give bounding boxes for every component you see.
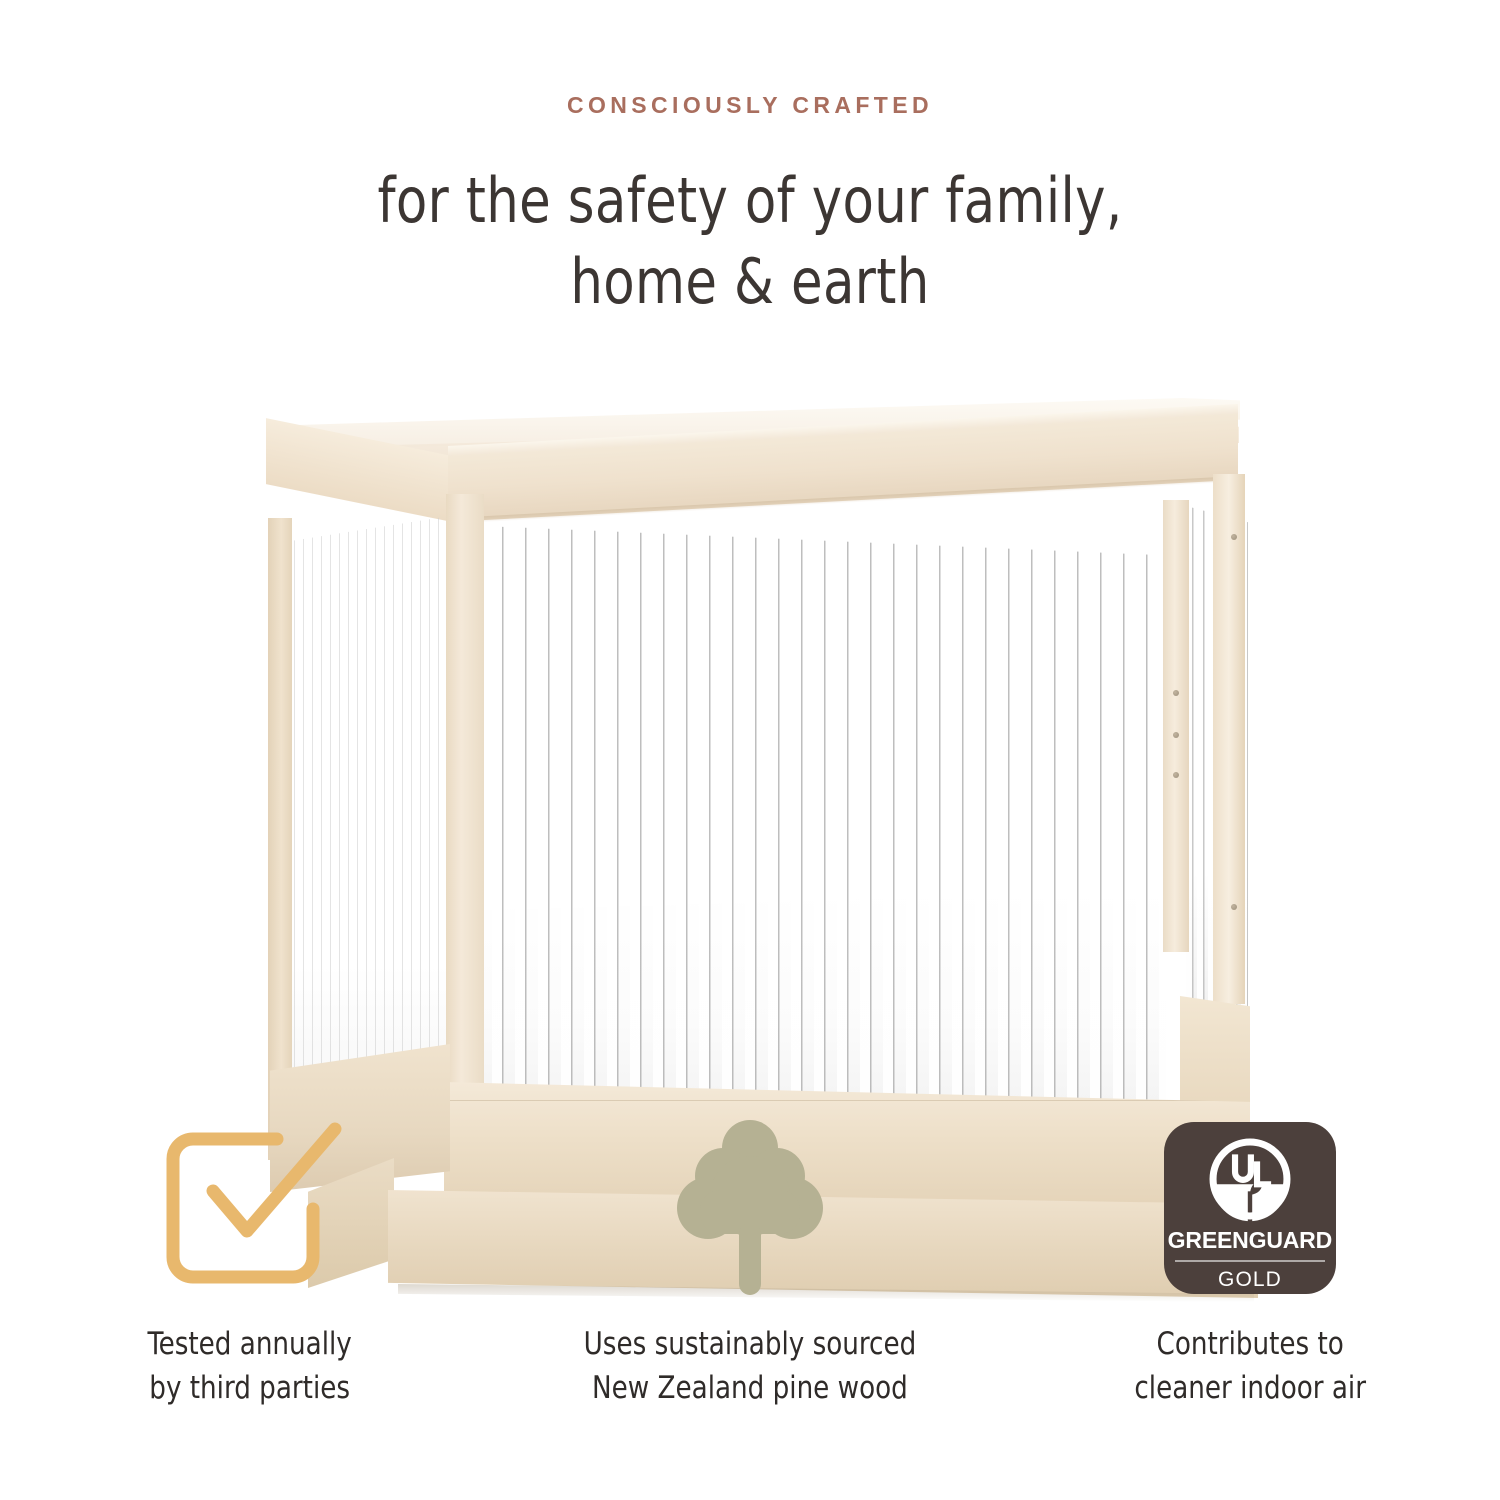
post-screw-icon xyxy=(1173,732,1179,738)
feature-caption-line-1: Contributes to xyxy=(1156,1326,1343,1362)
feature-caption-line-1: Uses sustainably sourced xyxy=(584,1326,917,1362)
checkbox-check-icon xyxy=(155,1121,345,1296)
ul-leaf-mark-icon xyxy=(1206,1135,1294,1223)
post-screw-icon xyxy=(1173,690,1179,696)
crib-post-left-rear xyxy=(268,518,292,1160)
feature-caption-line-1: Tested annually xyxy=(148,1326,352,1362)
feature-caption-line-2: cleaner indoor air xyxy=(1134,1366,1366,1410)
feature-caption: Contributes to cleaner indoor air xyxy=(1134,1322,1366,1410)
greenguard-divider xyxy=(1175,1260,1325,1262)
product-image-stage xyxy=(0,380,1500,1080)
feature-item-sustainable-wood: Uses sustainably sourced New Zealand pin… xyxy=(500,1108,1000,1410)
feature-icon-wrap: GREENGUARD GOLD xyxy=(1164,1108,1336,1308)
page-title: for the safety of your family, home & ea… xyxy=(60,160,1440,324)
feature-caption: Uses sustainably sourced New Zealand pin… xyxy=(584,1322,917,1410)
post-screw-icon xyxy=(1231,534,1237,540)
feature-caption: Tested annually by third parties xyxy=(148,1322,352,1410)
feature-caption-line-2: by third parties xyxy=(148,1366,352,1410)
page-root: CONSCIOUSLY CRAFTED for the safety of yo… xyxy=(0,0,1500,1500)
greenguard-tier: GOLD xyxy=(1218,1268,1282,1292)
greenguard-gold-badge-icon: GREENGUARD GOLD xyxy=(1164,1122,1336,1294)
feature-icon-wrap xyxy=(675,1108,825,1308)
headline-line-2: home & earth xyxy=(60,241,1440,323)
tree-icon xyxy=(675,1118,825,1298)
post-screw-icon xyxy=(1231,904,1237,910)
feature-caption-line-2: New Zealand pine wood xyxy=(584,1366,917,1410)
header-block: CONSCIOUSLY CRAFTED for the safety of yo… xyxy=(0,92,1500,323)
crib-post-right-rear xyxy=(1213,474,1245,1004)
eyebrow-text: CONSCIOUSLY CRAFTED xyxy=(0,92,1500,120)
post-screw-icon xyxy=(1173,772,1179,778)
feature-item-tested-annually: Tested annually by third parties xyxy=(0,1108,500,1410)
feature-item-greenguard: GREENGUARD GOLD Contributes to cleaner i… xyxy=(1000,1108,1500,1410)
crib-post-right-front xyxy=(1163,500,1189,952)
feature-icon-wrap xyxy=(155,1108,345,1308)
greenguard-name: GREENGUARD xyxy=(1168,1227,1332,1254)
headline-line-1: for the safety of your family, xyxy=(378,164,1123,237)
feature-row: Tested annually by third parties xyxy=(0,1108,1500,1410)
crib-illustration xyxy=(248,398,1258,1058)
